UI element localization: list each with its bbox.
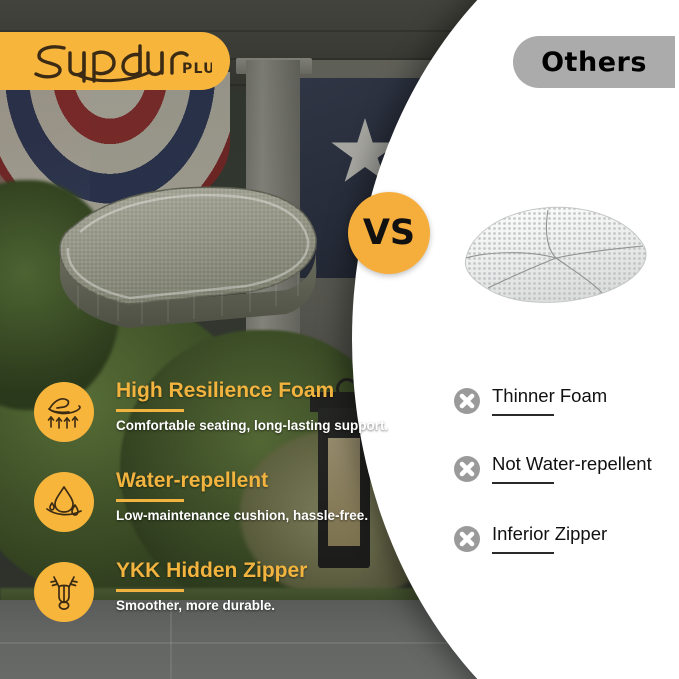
vs-label: VS (363, 213, 415, 253)
features-list: High Resilience Foam Comfortable seating… (34, 376, 384, 646)
con-title: Not Water-repellent (492, 452, 679, 476)
feature-subtitle: Comfortable seating, long-lasting suppor… (116, 417, 384, 434)
ykk-hidden-zipper-icon (34, 562, 94, 622)
feature-subtitle: Smoother, more durable. (116, 597, 384, 614)
feature-title: High Resilience Foam (116, 378, 384, 404)
feature-divider (116, 589, 184, 592)
other-cushion-image (452, 196, 662, 316)
supdur-plus-logo: PLUS (22, 39, 212, 83)
feature-title: YKK Hidden Zipper (116, 558, 384, 584)
vs-badge: VS (348, 192, 430, 274)
con-item: Thinner Foam (452, 384, 672, 452)
feature-text: High Resilience Foam Comfortable seating… (116, 378, 384, 434)
con-text: Thinner Foam (492, 384, 679, 416)
cons-list: Thinner Foam Not Water-repellent (452, 384, 672, 590)
feature-item: Water-repellent Low-maintenance cushion,… (34, 466, 384, 556)
others-badge: Others (513, 36, 675, 88)
cross-circle-icon (452, 454, 482, 484)
high-resilience-foam-icon (34, 382, 94, 442)
con-title: Thinner Foam (492, 384, 679, 408)
feature-divider (116, 499, 184, 502)
feature-subtitle: Low-maintenance cushion, hassle-free. (116, 507, 384, 524)
con-item: Inferior Zipper (452, 522, 672, 590)
con-divider (492, 482, 554, 484)
feature-divider (116, 409, 184, 412)
cross-circle-icon (452, 386, 482, 416)
con-item: Not Water-repellent (452, 452, 672, 522)
logo-plus-text: PLUS (182, 61, 212, 77)
feature-item: YKK Hidden Zipper Smoother, more durable… (34, 556, 384, 646)
others-label: Others (541, 47, 647, 78)
feature-text: YKK Hidden Zipper Smoother, more durable… (116, 558, 384, 614)
comparison-infographic: PLUS Others (0, 0, 679, 679)
con-title: Inferior Zipper (492, 522, 679, 546)
brand-logo-badge: PLUS (0, 32, 230, 90)
con-divider (492, 414, 554, 416)
product-cushion-image (18, 168, 358, 328)
con-divider (492, 552, 554, 554)
feature-text: Water-repellent Low-maintenance cushion,… (116, 468, 384, 524)
water-repellent-droplet-icon (34, 472, 94, 532)
con-text: Not Water-repellent (492, 452, 679, 484)
feature-title: Water-repellent (116, 468, 384, 494)
cross-circle-icon (452, 524, 482, 554)
con-text: Inferior Zipper (492, 522, 679, 554)
feature-item: High Resilience Foam Comfortable seating… (34, 376, 384, 466)
